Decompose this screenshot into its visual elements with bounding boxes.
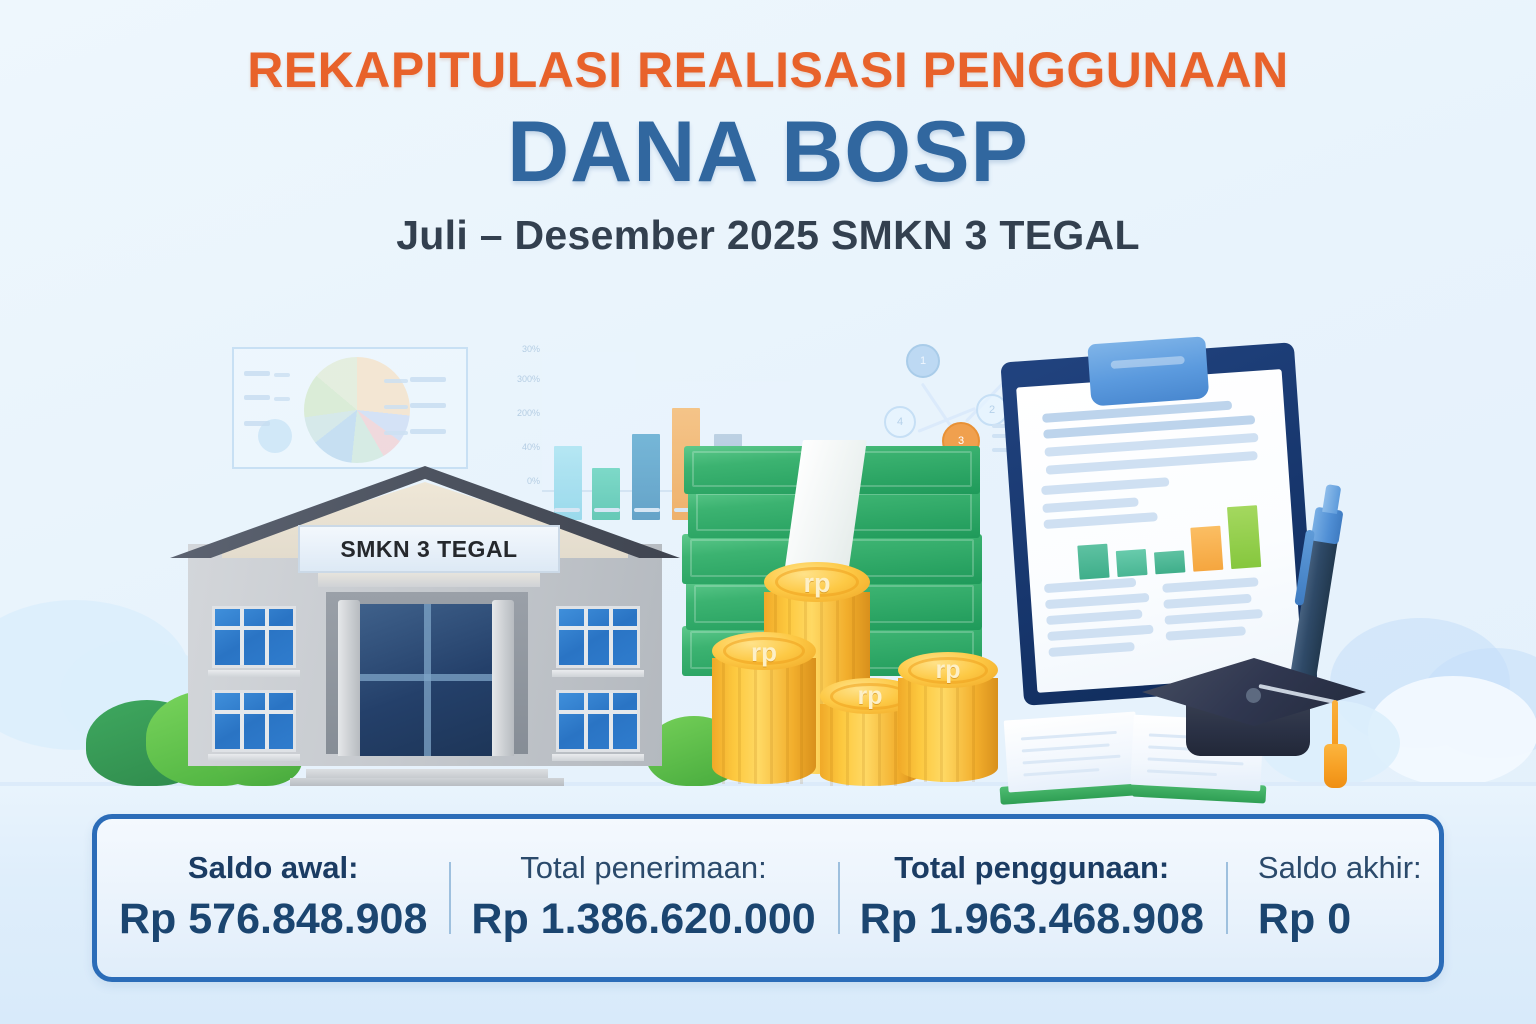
stat-label: Total penggunaan: (860, 850, 1204, 887)
stat-value: Rp 576.848.908 (119, 894, 427, 946)
pie-leader-line (274, 373, 290, 377)
report-text-line (1164, 609, 1262, 625)
pie-legend-label (410, 403, 446, 408)
bar-chart-ytick: 300% (500, 374, 540, 384)
stat-label: Saldo akhir: (1258, 850, 1434, 887)
page-subtitle: Juli – Desember 2025 SMKN 3 TEGAL (0, 212, 1536, 259)
stat-value: Rp 0 (1258, 894, 1434, 946)
pie-leader-line (274, 397, 290, 401)
pie-legend-label (244, 395, 270, 400)
report-text-line (1047, 625, 1153, 641)
graduation-cap-icon (1142, 652, 1366, 782)
pie-legend-label (244, 421, 270, 426)
stat-value: Rp 1.386.620.000 (471, 894, 815, 946)
pie-chart-slices (304, 357, 410, 463)
stat-label: Saldo awal: (119, 850, 427, 887)
summary-stats-panel: Saldo awal: Rp 576.848.908 Total penerim… (92, 814, 1444, 982)
school-window (212, 606, 296, 668)
book-page (1004, 711, 1141, 792)
school-window-sill (208, 754, 300, 761)
pie-leader-line (384, 431, 408, 435)
coin-currency-symbol: rp (712, 639, 816, 665)
school-building-icon: SMKN 3 TEGAL (170, 466, 680, 786)
report-bar-chart (1040, 488, 1275, 582)
school-column (338, 600, 360, 756)
page-title-line2: DANA BOSP (0, 107, 1536, 198)
stat-label: Total penerimaan: (471, 850, 815, 887)
school-column (492, 600, 514, 756)
bar-chart-ytick: 30% (500, 344, 540, 354)
school-name-sign: SMKN 3 TEGAL (298, 525, 560, 573)
stat-saldo-awal: Saldo awal: Rp 576.848.908 (97, 850, 449, 946)
stat-total-penggunaan: Total penggunaan: Rp 1.963.468.908 (838, 850, 1226, 946)
coin-stack-icon: rp (712, 632, 816, 784)
report-text-line (1041, 477, 1169, 495)
pie-chart-icon (232, 347, 468, 469)
pie-legend-label (410, 429, 446, 434)
school-window-sill (208, 670, 300, 677)
report-bar (1154, 550, 1185, 574)
report-bar (1190, 526, 1223, 572)
network-node-icon: 1 (906, 344, 940, 378)
coin-currency-symbol: rp (898, 658, 998, 683)
cap-tassel (1324, 744, 1347, 788)
coin-currency-symbol: rp (764, 570, 870, 597)
cap-button (1246, 688, 1261, 703)
report-bar (1116, 549, 1148, 577)
stat-value: Rp 1.963.468.908 (860, 894, 1204, 946)
school-door-lintel (318, 573, 540, 587)
school-window (556, 606, 640, 668)
pie-legend-label (410, 377, 446, 382)
infographic-poster: 30% 300% 200% 40% 0% 1 2 4 3 (0, 0, 1536, 1024)
pie-leader-line (384, 405, 408, 409)
poster-header: REKAPITULASI REALISASI PENGGUNAAN DANA B… (0, 44, 1536, 259)
pie-leader-line (384, 379, 408, 383)
school-window-sill (552, 670, 644, 677)
bar-chart-ytick: 200% (500, 408, 540, 418)
report-text-line (1048, 642, 1134, 657)
clipboard-clip (1087, 336, 1209, 406)
clipboard-paper (1016, 369, 1303, 693)
school-window (212, 690, 296, 752)
coin-stack-body (898, 678, 998, 782)
coin-stack-body (712, 658, 816, 784)
report-text-line (1166, 626, 1246, 641)
report-text-line (1045, 593, 1149, 609)
network-node-icon: 4 (884, 406, 916, 438)
school-window (556, 690, 640, 752)
school-window-sill (552, 754, 644, 761)
school-step (290, 778, 564, 786)
report-bar (1227, 505, 1261, 569)
school-name-text: SMKN 3 TEGAL (340, 536, 517, 563)
report-text-line (1046, 609, 1142, 625)
stat-saldo-akhir: Saldo akhir: Rp 0 (1226, 850, 1456, 946)
report-text-line (1162, 577, 1258, 593)
school-door (348, 604, 506, 756)
report-text-line (1163, 594, 1251, 609)
cap-tassel-cord (1332, 700, 1338, 750)
report-text-line (1046, 451, 1258, 475)
stat-total-penerimaan: Total penerimaan: Rp 1.386.620.000 (449, 850, 837, 946)
pie-legend-label (244, 371, 270, 376)
page-title-line1: REKAPITULASI REALISASI PENGGUNAAN (0, 44, 1536, 97)
coin-stack-icon: rp (898, 652, 998, 782)
bar-chart-ytick: 40% (500, 442, 540, 452)
report-bar (1077, 544, 1109, 580)
